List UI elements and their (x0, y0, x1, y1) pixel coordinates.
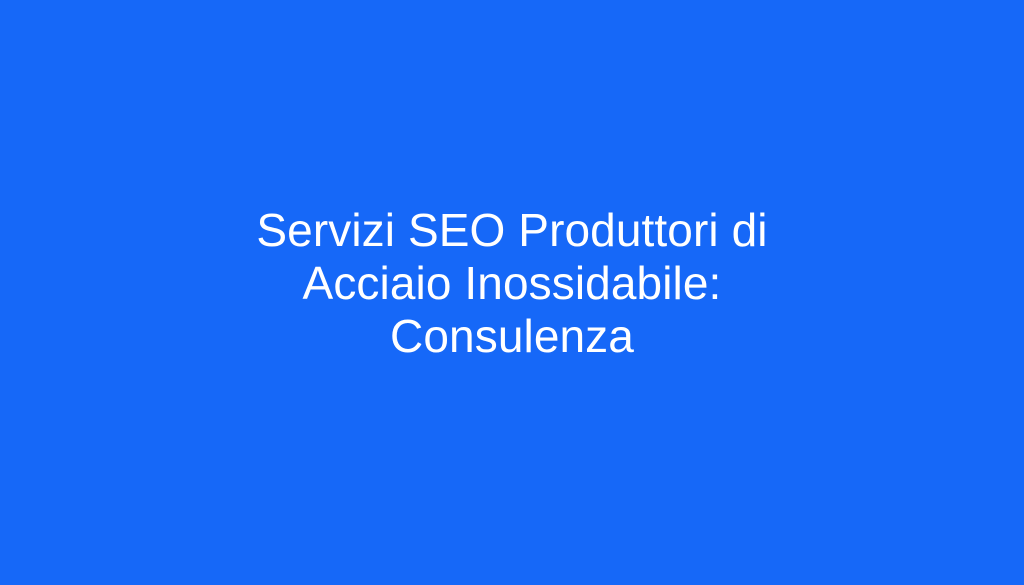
page-title: Servizi SEO Produttori di Acciaio Inossi… (182, 204, 842, 363)
hero-banner-content: Servizi SEO Produttori di Acciaio Inossi… (0, 204, 1024, 381)
hero-banner: Servizi SEO Produttori di Acciaio Inossi… (0, 0, 1024, 585)
